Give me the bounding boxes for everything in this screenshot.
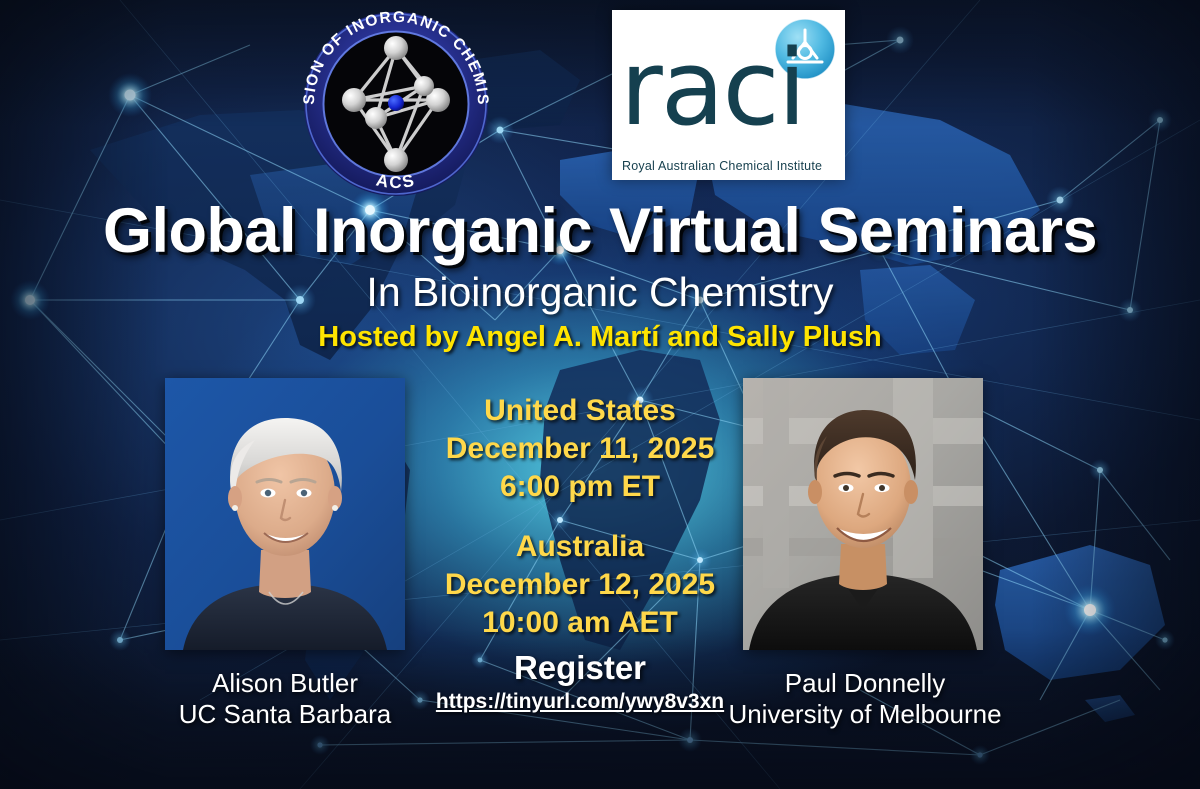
speaker-name-left: Alison Butler <box>115 668 455 699</box>
session-au-time: 10:00 am AET <box>410 604 750 642</box>
speaker-affiliation-right: University of Melbourne <box>695 699 1035 730</box>
speaker-caption-left: Alison Butler UC Santa Barbara <box>115 668 455 730</box>
svg-text:ACS: ACS <box>374 170 417 192</box>
session-spacer <box>410 506 750 528</box>
speaker-photo-alison-butler <box>165 378 405 650</box>
session-au-date: December 12, 2025 <box>410 566 750 604</box>
speaker-name-right: Paul Donnelly <box>695 668 1035 699</box>
hosts-line: Hosted by Angel A. Martí and Sally Plush <box>0 320 1200 354</box>
speaker-caption-right: Paul Donnelly University of Melbourne <box>695 668 1035 730</box>
session-us-date: December 11, 2025 <box>410 430 750 468</box>
session-us-region: United States <box>410 392 750 430</box>
raci-wordmark: raci <box>620 36 820 140</box>
seminar-poster: DIVISION OF INORGANIC CHEMISTRY ACS <box>0 0 1200 789</box>
acs-inorganic-division-seal-icon: DIVISION OF INORGANIC CHEMISTRY ACS <box>292 8 500 198</box>
page-subtitle: In Bioinorganic Chemistry <box>0 268 1200 316</box>
session-us-time: 6:00 pm ET <box>410 468 750 506</box>
raci-logo: raci Royal Australian Chemical Institute <box>612 10 845 180</box>
session-au-region: Australia <box>410 528 750 566</box>
speaker-affiliation-left: UC Santa Barbara <box>115 699 455 730</box>
speaker-photo-paul-donnelly <box>743 378 983 650</box>
raci-tagline: Royal Australian Chemical Institute <box>622 159 822 173</box>
page-title: Global Inorganic Virtual Seminars <box>0 196 1200 266</box>
paul-donnelly-headshot <box>743 378 983 650</box>
alison-butler-headshot <box>165 378 405 650</box>
